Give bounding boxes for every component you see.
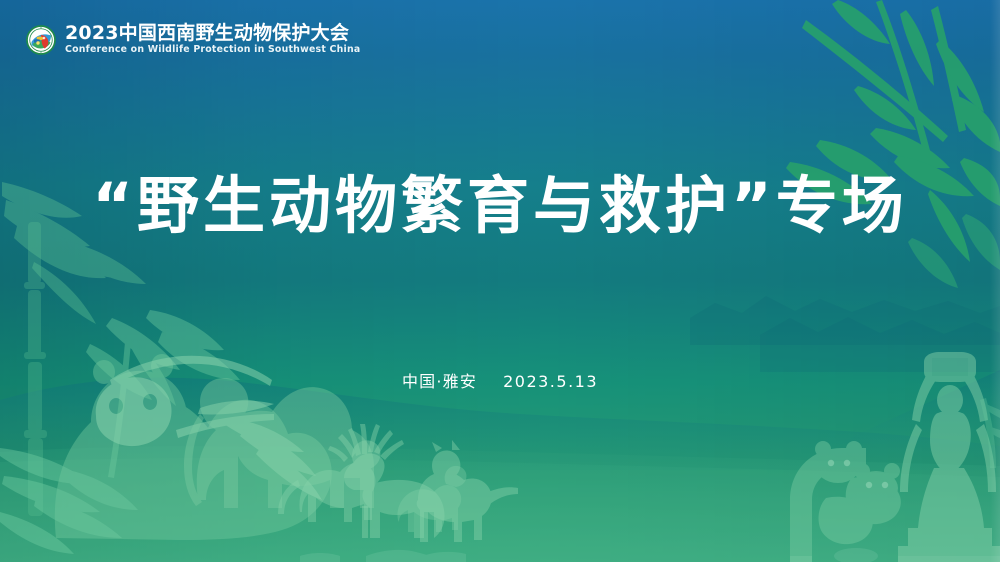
background-horizontal-tint [0,0,1000,562]
dateline-container: 中国·雅安 2023.5.13 [0,368,1000,392]
conference-emblem-icon [26,25,56,55]
main-title-container: “野生动物繁育与救护”专场 [0,170,1000,241]
event-location: 中国·雅安 [402,368,477,392]
conference-title-cn: 2023中国西南野生动物保护大会 [65,24,360,44]
conference-header: 2023中国西南野生动物保护大会 Conference on Wildlife … [26,24,360,55]
conference-header-text: 2023中国西南野生动物保护大会 Conference on Wildlife … [65,24,360,55]
event-date: 2023.5.13 [503,372,598,391]
session-title: “野生动物繁育与救护”专场 [92,170,908,241]
conference-title-en: Conference on Wildlife Protection in Sou… [65,45,360,55]
slide-canvas: 2023中国西南野生动物保护大会 Conference on Wildlife … [0,0,1000,562]
dateline: 中国·雅安 2023.5.13 [402,368,598,392]
